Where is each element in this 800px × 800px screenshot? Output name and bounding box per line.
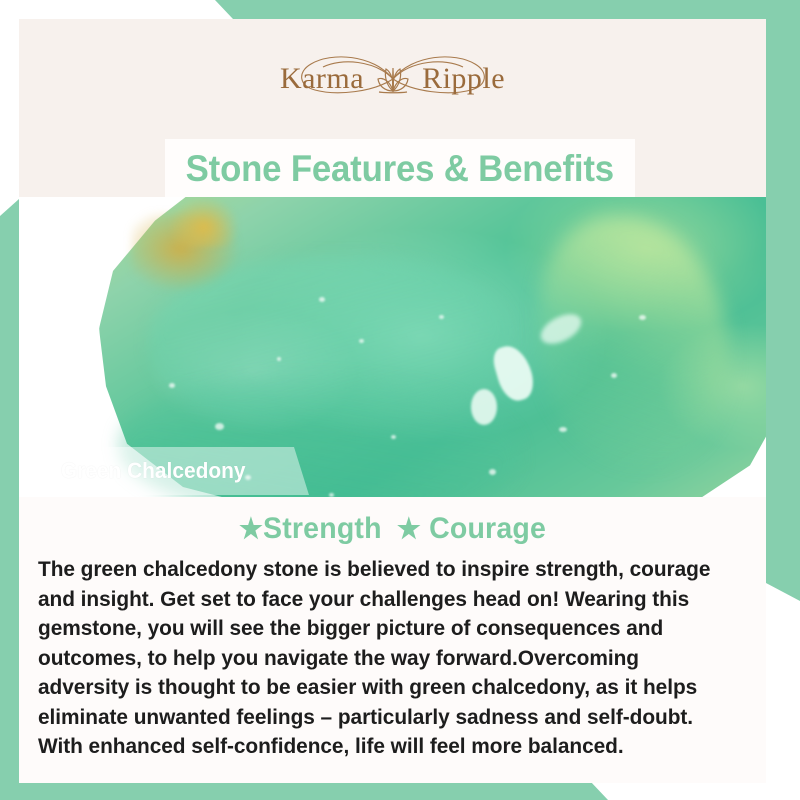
brand-logo-text: Karma Ripple	[253, 62, 533, 96]
stone-name-banner: Green Chalcedony	[19, 447, 309, 495]
stone-chip-small	[471, 389, 497, 425]
stone-speck	[639, 315, 646, 320]
stone-speck	[559, 427, 567, 432]
body-paragraph: The green chalcedony stone is believed t…	[38, 555, 726, 762]
content-panel: ★Strength★ Courage The green chalcedony …	[19, 497, 766, 783]
stone-speck	[277, 357, 281, 361]
decorative-frame-bottom	[0, 781, 800, 800]
decorative-frame-top	[0, 0, 800, 19]
star-icon: ★	[239, 513, 263, 544]
star-icon: ★	[397, 513, 421, 544]
brand-name-right: Ripple	[420, 62, 507, 96]
stone-speck	[319, 297, 325, 302]
stone-speck	[439, 315, 444, 319]
keyword-courage: Courage	[429, 512, 546, 545]
stone-name: Green Chalcedony	[61, 458, 246, 484]
stone-ochre-inclusion-top	[169, 197, 239, 247]
keyword-row: ★Strength★ Courage	[38, 512, 748, 546]
stone-photo: Green Chalcedony	[19, 197, 766, 497]
stone-speck	[169, 383, 175, 388]
title-banner: Stone Features & Benefits	[165, 139, 635, 199]
stone-speck	[391, 435, 396, 439]
brand-name-left: Karma	[278, 62, 366, 96]
stone-speck	[215, 423, 224, 430]
decorative-frame-left	[0, 199, 19, 800]
decorative-frame-right	[766, 0, 800, 601]
stone-speck	[489, 469, 496, 475]
promo-poster: Karma Ripple Stone Features & Benefits	[0, 0, 800, 800]
brand-logo: Karma Ripple	[253, 46, 533, 112]
page-title: Stone Features & Benefits	[186, 148, 614, 190]
stone-speck	[359, 339, 364, 343]
keyword-strength: Strength	[263, 512, 382, 545]
stone-speck	[611, 373, 617, 378]
poster-header: Karma Ripple	[19, 19, 766, 139]
